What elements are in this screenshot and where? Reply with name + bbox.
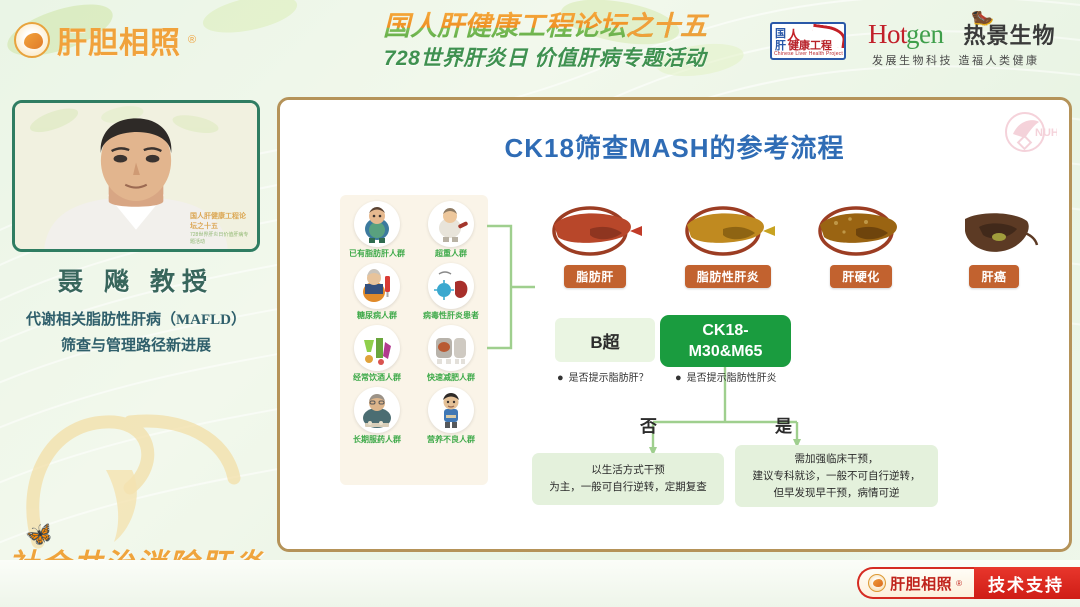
outcome-positive-line2: 建议专科就诊，一般不可自行逆转， [753, 468, 921, 485]
population-label: 快速减肥人群 [414, 373, 488, 383]
bullet-glyph: ● [675, 372, 682, 386]
ultrasound-question: ● 是否提示脂肪肝？ [557, 372, 677, 386]
hotgen-logo: Hotgen 🥾 热景生物 发展生物科技 造福人类健康 [868, 18, 1068, 68]
event-title-block: 国人肝健康工程论坛之十五 728世界肝炎日 价值肝病专题活动 [340, 10, 750, 72]
population-item[interactable]: 已有脂肪肝人群 [340, 201, 414, 259]
event-subtitle: 728世界肝炎日 价值肝病专题活动 [340, 45, 750, 72]
population-label: 已有脂肪肝人群 [340, 249, 414, 259]
footer-brand-registered-mark: ® [956, 579, 962, 588]
hotgen-tagline: 发展生物科技 造福人类健康 [872, 52, 1068, 68]
liver-progression-row: 脂肪肝 脂肪性肝炎 [535, 203, 1065, 303]
page-header: 肝胆相照 ® 国人肝健康工程论坛之十五 728世界肝炎日 价值肝病专题活动 国 … [0, 0, 1080, 92]
tech-support-label: 技术支持 [974, 567, 1080, 599]
brand-registered-mark: ® [188, 34, 196, 46]
ck18-line2: M30&M65 [689, 341, 763, 362]
slide-title: CK18筛查MASH的参考流程 [280, 128, 1069, 165]
steatohepatitis-liver-icon [668, 203, 788, 261]
outcome-negative-line1: 以生活方式干预 [549, 462, 707, 479]
diabetes-person-icon [354, 263, 400, 309]
speaker-topic-line1: 代谢相关脂肪性肝病（MAFLD） [8, 307, 264, 333]
outcome-positive-line1: 需加强临床干预， [753, 451, 921, 468]
event-title-suffix: 之十五 [626, 11, 707, 41]
ultrasound-step-box[interactable]: B超 [555, 318, 655, 362]
liver-flame-logo-icon [14, 22, 50, 58]
population-item[interactable]: 经常饮酒人群 [340, 325, 414, 383]
outcome-box-positive: 需加强临床干预， 建议专科就诊，一般不可自行逆转， 但早发现早干预，病情可逆 [735, 445, 938, 507]
population-label: 病毒性肝炎患者 [414, 311, 488, 321]
population-item[interactable]: 超重人群 [414, 201, 488, 259]
clhp-logo: 国 人 肝 健康工程 Chinese Liver Health Project [770, 22, 856, 66]
ck18-test-box[interactable]: CK18- M30&M65 [660, 315, 791, 367]
population-item[interactable]: 长期服药人群 [340, 387, 414, 445]
outcome-positive-line3: 但早发现早干预，病情可逆 [753, 485, 921, 502]
liver-stage-label: 肝硬化 [830, 265, 892, 288]
at-risk-population-panel: 已有脂肪肝人群 超重人群 [340, 195, 488, 485]
rapid-weight-loss-icon [428, 325, 474, 371]
video-badge-line2: 728世界肝炎日价值肝病专题活动 [190, 231, 252, 245]
video-badge-line1: 国人肝健康工程论坛之十五 [190, 211, 252, 231]
population-item[interactable]: 病毒性肝炎患者 [414, 263, 488, 321]
population-item[interactable]: 快速减肥人群 [414, 325, 488, 383]
brand-name: 肝胆相照 [57, 18, 181, 62]
liver-stage-label: 脂肪性肝炎 [685, 265, 772, 288]
liver-stage[interactable]: 脂肪性肝炎 [668, 203, 788, 288]
speaker-panel: 国人肝健康工程论坛之十五 728世界肝炎日价值肝病专题活动 聂 飚 教授 代谢相… [0, 92, 272, 607]
long-term-medication-icon [354, 387, 400, 433]
tech-support-badge[interactable]: 肝胆相照 ® 技术支持 [857, 567, 1080, 599]
population-label: 长期服药人群 [340, 435, 414, 445]
clhp-english-name: Chinese Liver Health Project [774, 51, 843, 57]
alcohol-drinker-icon [354, 325, 400, 371]
footer-bar: 肝胆相照 ® 技术支持 [0, 560, 1080, 607]
population-grid: 已有脂肪肝人群 超重人群 [340, 201, 488, 445]
ck18-line1: CK18- [702, 320, 748, 341]
overweight-person-icon [428, 201, 474, 247]
population-item[interactable]: 营养不良人群 [414, 387, 488, 445]
branch-label-no: 否 [640, 412, 657, 437]
outcome-box-negative: 以生活方式干预 为主，一般可自行逆转，定期复查 [532, 453, 724, 505]
population-label: 经常饮酒人群 [340, 373, 414, 383]
cirrhosis-liver-icon [801, 203, 921, 261]
virus-hepatitis-icon [428, 263, 474, 309]
ultrasound-question-text: 是否提示脂肪肝？ [569, 372, 649, 386]
video-corner-badge: 国人肝健康工程论坛之十五 728世界肝炎日价值肝病专题活动 [190, 211, 252, 243]
population-label: 超重人群 [414, 249, 488, 259]
obese-person-icon [354, 201, 400, 247]
footer-brand[interactable]: 肝胆相照 ® [857, 567, 974, 599]
malnutrition-person-icon [428, 387, 474, 433]
bullet-glyph: ● [557, 372, 564, 386]
speaker-name: 聂 飚 教授 [0, 262, 272, 298]
population-label: 糖尿病人群 [340, 311, 414, 321]
ck18-question-text: 是否提示脂肪性肝炎 [687, 372, 777, 386]
hotgen-hot-text: Hot [868, 19, 907, 50]
population-to-stage-connector [485, 222, 537, 352]
population-item[interactable]: 糖尿病人群 [340, 263, 414, 321]
liver-stage[interactable]: 肝硬化 [801, 203, 921, 288]
event-title-main: 国人肝健康工程论坛 [383, 11, 626, 41]
ultrasound-step-label: B超 [590, 328, 619, 353]
ck18-question: ● 是否提示脂肪性肝炎 [675, 372, 793, 386]
presentation-slide[interactable]: NUH CK18筛查MASH的参考流程 [277, 97, 1072, 552]
outcome-negative-line2: 为主，一般可自行逆转，定期复查 [549, 479, 707, 496]
speaker-video-feed[interactable]: 国人肝健康工程论坛之十五 728世界肝炎日价值肝病专题活动 [12, 100, 260, 252]
branch-label-yes: 是 [775, 412, 792, 437]
hotgen-gen-text: gen [906, 19, 943, 50]
liver-stage[interactable]: 肝癌 [934, 203, 1054, 288]
population-label: 营养不良人群 [414, 435, 488, 445]
liver-stage[interactable]: 脂肪肝 [535, 203, 655, 288]
fatty-liver-icon [535, 203, 655, 261]
liver-stage-label: 肝癌 [969, 265, 1018, 288]
liver-flame-logo-icon [868, 574, 886, 592]
speaker-topic: 代谢相关脂肪性肝病（MAFLD） 筛查与管理路径新进展 [8, 307, 264, 359]
speaker-topic-line2: 筛查与管理路径新进展 [8, 333, 264, 359]
liver-cancer-icon [934, 203, 1054, 261]
event-title: 国人肝健康工程论坛之十五 [340, 10, 750, 42]
footer-brand-name: 肝胆相照 [890, 573, 952, 594]
liver-stage-label: 脂肪肝 [564, 265, 626, 288]
brand-logo[interactable]: 肝胆相照 ® [14, 18, 196, 62]
